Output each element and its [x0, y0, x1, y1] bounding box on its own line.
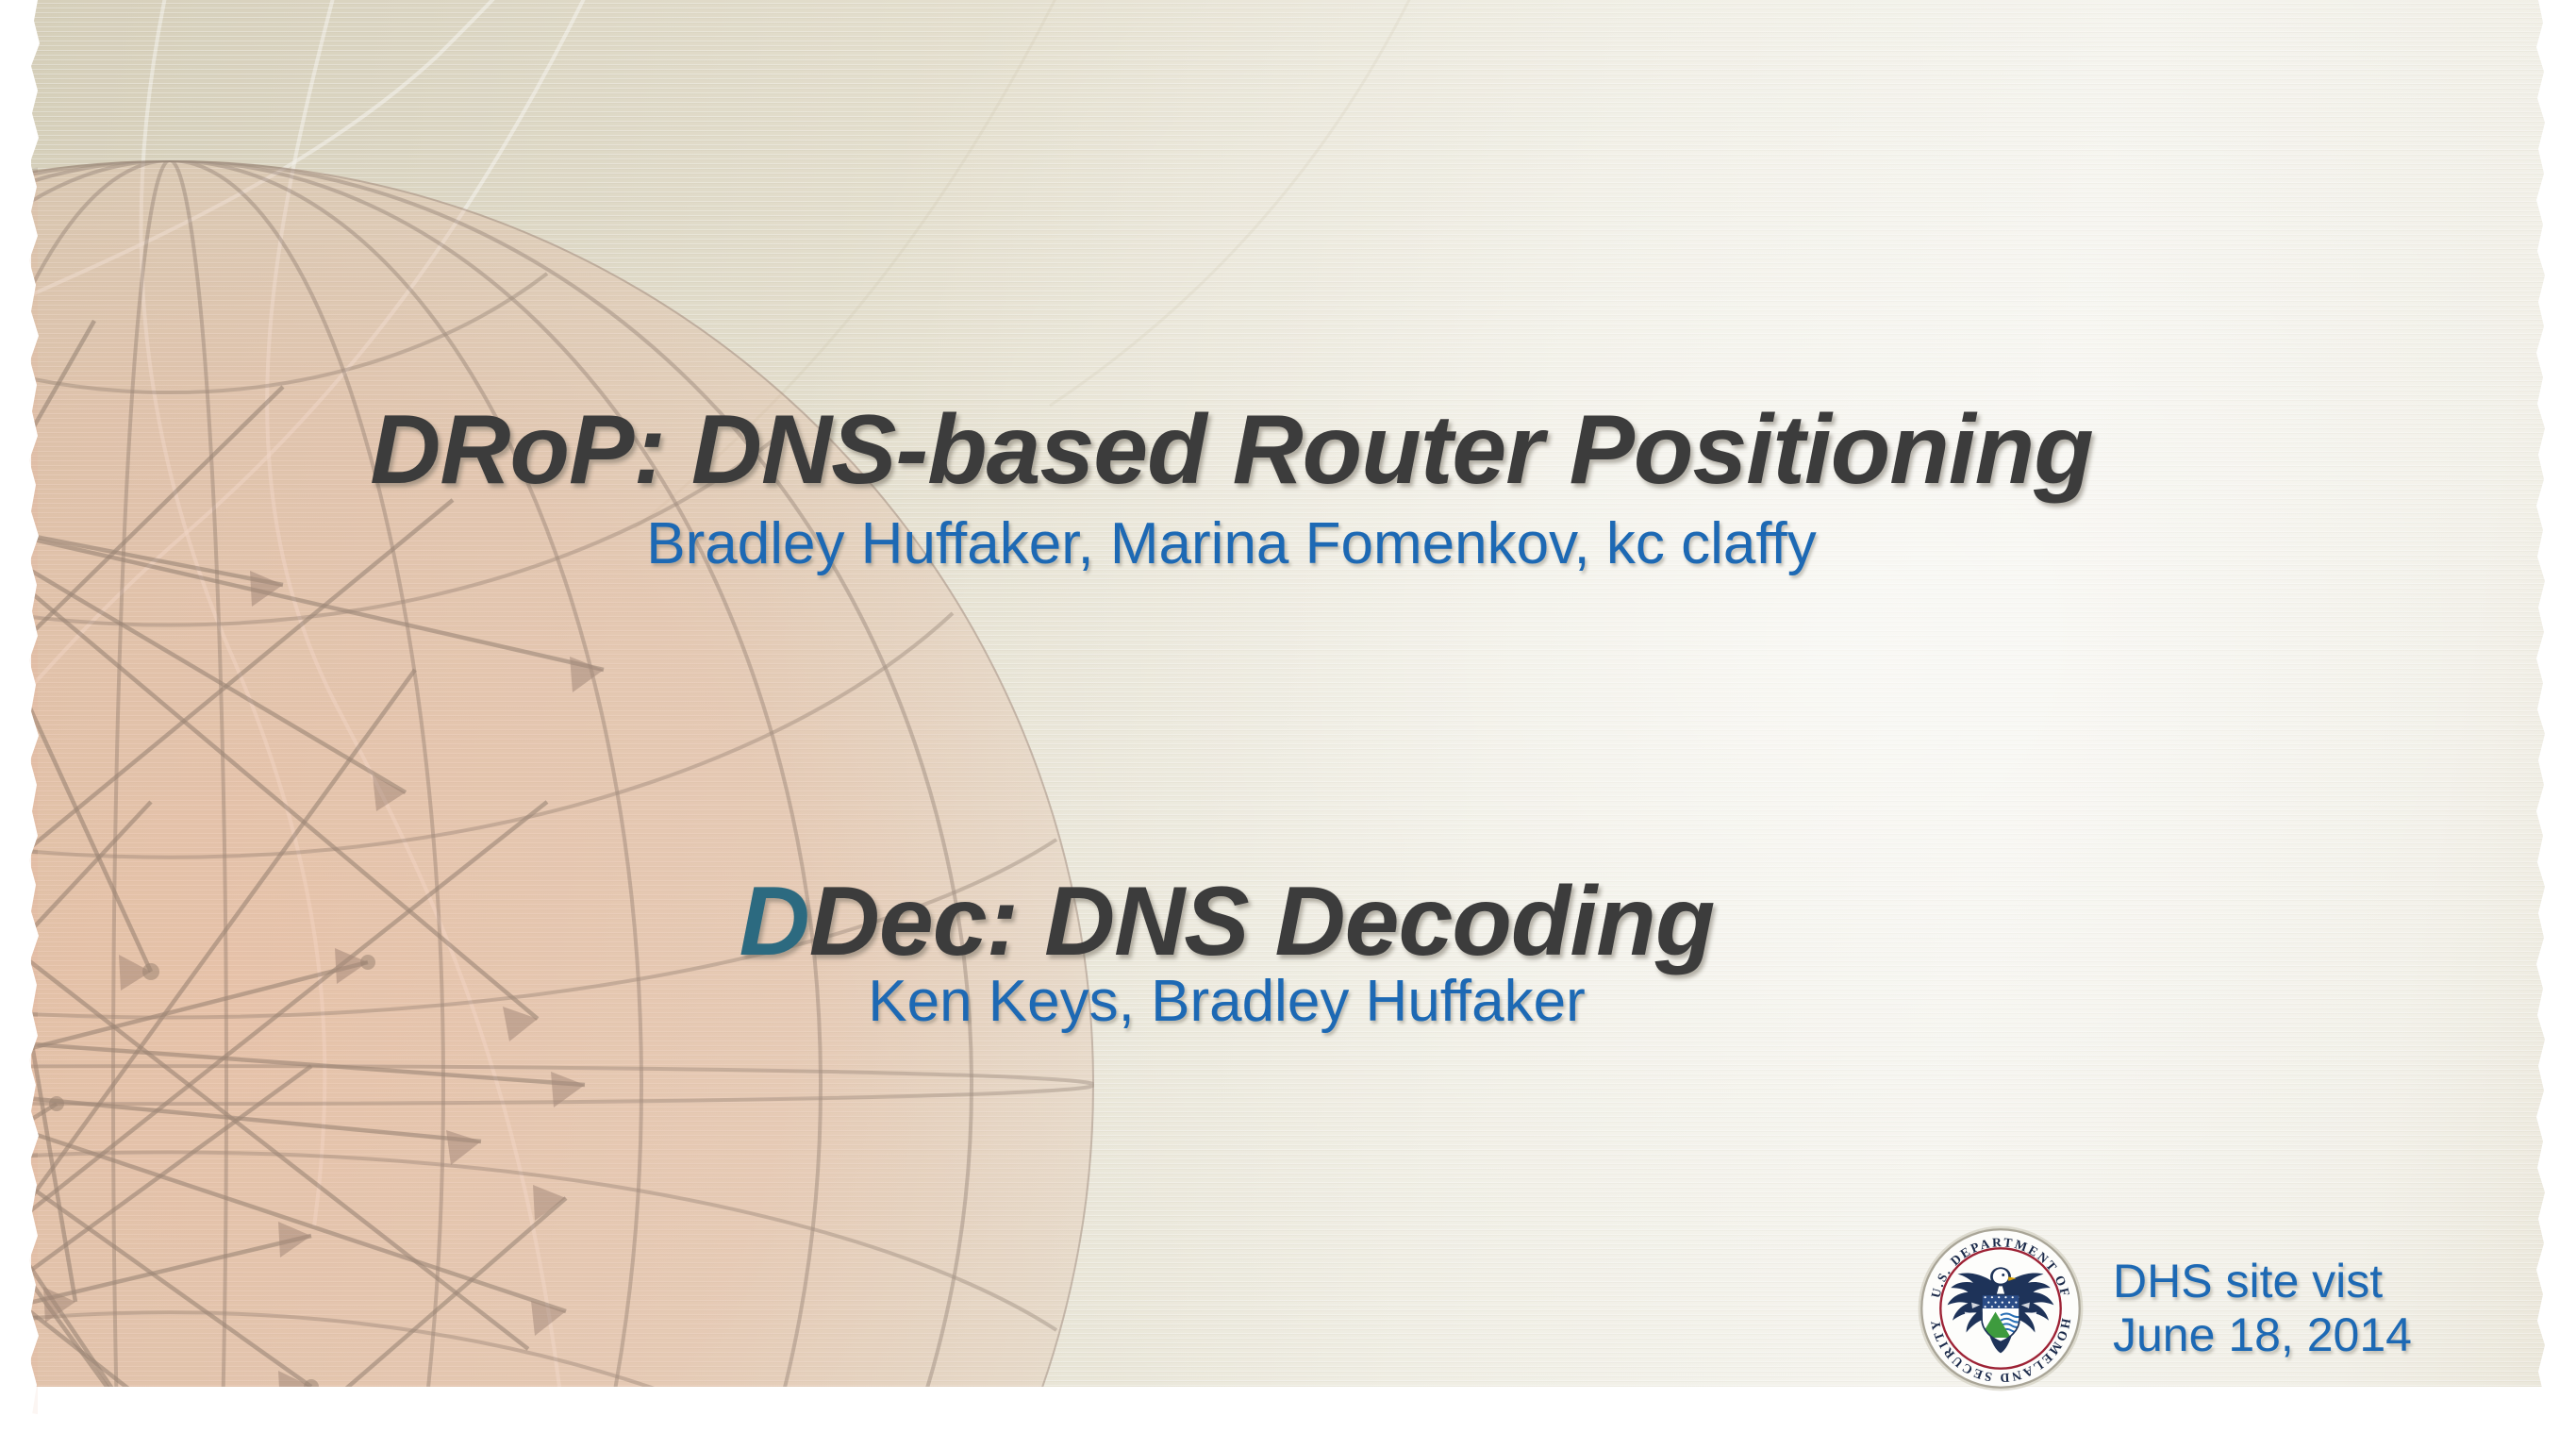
- paper-sheen: [31, 0, 2557, 1387]
- authors-drop: Bradley Huffaker, Marina Fomenkov, kc cl…: [0, 510, 2576, 577]
- footer-line-date: June 18, 2014: [2113, 1308, 2412, 1362]
- slide-background: [31, 0, 2557, 1387]
- page-title-drop: DRoP: DNS-based Router Positioning: [0, 394, 2576, 507]
- dhs-seal-icon: U.S. DEPARTMENT OF HOMELAND SECURITY: [1911, 1223, 2090, 1394]
- footer-line-event: DHS site vist: [2113, 1255, 2412, 1308]
- footer: U.S. DEPARTMENT OF HOMELAND SECURITY: [1911, 1223, 2412, 1394]
- paper-texture: [31, 0, 2557, 1387]
- ddec-lead-letter: D: [740, 867, 809, 976]
- presentation-slide: DRoP: DNS-based Router Positioning Bradl…: [0, 0, 2576, 1449]
- footer-text-block: DHS site vist June 18, 2014: [2113, 1255, 2412, 1362]
- page-title-ddec: DDec: DNS Decoding: [0, 866, 2576, 978]
- authors-ddec: Ken Keys, Bradley Huffaker: [0, 968, 2576, 1035]
- ddec-title-rest: Dec: DNS Decoding: [809, 867, 1715, 976]
- internet-topology-globe: [31, 142, 1113, 1387]
- background-curves: [31, 0, 2557, 1387]
